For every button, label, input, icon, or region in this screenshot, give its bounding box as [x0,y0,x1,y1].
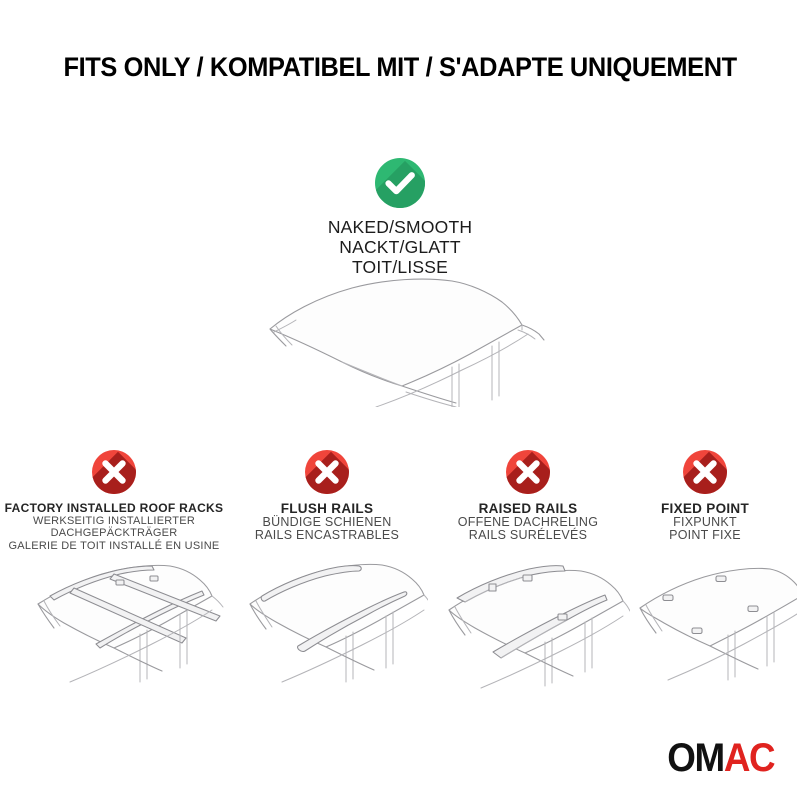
label-de: OFFENE DACHRELING [430,516,626,530]
factory-roof-rack-illustration [10,552,225,697]
incompatible-item-fixed-point: FIXED POINT FIXPUNKT POINT FIXE [630,450,780,543]
incompatible-labels: RAISED RAILS OFFENE DACHRELING RAILS SUR… [430,502,626,543]
label-de: BÜNDIGE SCHIENEN [232,516,422,530]
label-fr: POINT FIXE [630,529,780,543]
fixed-point-illustration [622,552,797,697]
compatible-label-de: NACKT/GLATT [0,237,800,257]
logo-part-accent: AC [724,736,774,780]
incompatible-item-raised-rails: RAISED RAILS OFFENE DACHRELING RAILS SUR… [430,450,626,543]
incompatible-item-factory-roof-racks: FACTORY INSTALLED ROOF RACKS WERKSEITIG … [0,450,228,552]
page-title: FITS ONLY / KOMPATIBEL MIT / S'ADAPTE UN… [0,52,800,83]
cross-badge [506,450,550,494]
compatible-section: NAKED/SMOOTH NACKT/GLATT TOIT/LISSE [0,158,800,277]
label-fr: GALERIE DE TOIT INSTALLÉ EN USINE [0,540,228,553]
raised-rails-illustration [425,552,630,697]
logo-part-dark: OM [667,736,724,780]
cross-icon [506,450,550,494]
incompatible-labels: FIXED POINT FIXPUNKT POINT FIXE [630,502,780,543]
label-en: FIXED POINT [630,502,780,516]
compatible-label-en: NAKED/SMOOTH [0,217,800,237]
cross-badge [683,450,727,494]
cross-badge [305,450,349,494]
compatible-labels: NAKED/SMOOTH NACKT/GLATT TOIT/LISSE [0,217,800,277]
incompatible-section: FACTORY INSTALLED ROOF RACKS WERKSEITIG … [0,450,800,560]
label-fr: RAILS SURÉLEVÉS [430,529,626,543]
cross-icon [92,450,136,494]
label-fr: RAILS ENCASTRABLES [232,529,422,543]
cross-icon [305,450,349,494]
flush-rails-illustration [228,552,428,697]
label-de-1: WERKSEITIG INSTALLIERTER [0,515,228,528]
page-title-text: FITS ONLY / KOMPATIBEL MIT / S'ADAPTE UN… [63,52,736,83]
smooth-roof-illustration [256,272,556,407]
incompatible-item-flush-rails: FLUSH RAILS BÜNDIGE SCHIENEN RAILS ENCAS… [232,450,422,543]
check-badge [375,158,425,208]
label-en: RAISED RAILS [430,502,626,516]
omac-logo: OMAC [667,738,774,778]
cross-icon [683,450,727,494]
check-icon [375,158,425,208]
cross-badge [92,450,136,494]
label-de: FIXPUNKT [630,516,780,530]
incompatible-labels: FLUSH RAILS BÜNDIGE SCHIENEN RAILS ENCAS… [232,502,422,543]
label-en: FACTORY INSTALLED ROOF RACKS [0,502,228,515]
incompatible-labels: FACTORY INSTALLED ROOF RACKS WERKSEITIG … [0,502,228,552]
label-en: FLUSH RAILS [232,502,422,516]
label-de-2: DACHGEPÄCKTRÄGER [0,527,228,540]
